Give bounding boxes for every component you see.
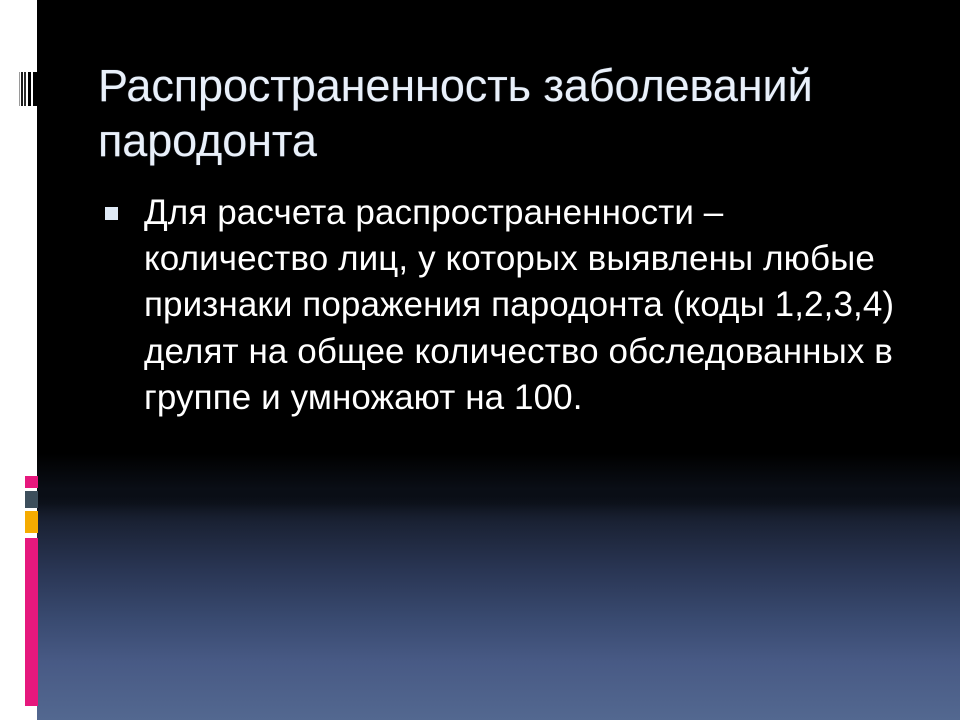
- accent-bar-magenta: [25, 538, 38, 706]
- list-item-text: Для расчета распространенности – количес…: [144, 193, 894, 417]
- accent-block-slate: [25, 491, 38, 508]
- barcode-bar: [33, 72, 38, 106]
- slide-title: Распространенность заболеваний пародонта: [98, 58, 928, 169]
- square-bullet-icon: [105, 207, 118, 220]
- presentation-slide: Распространенность заболеваний пародонта…: [0, 0, 960, 720]
- accent-block-amber: [25, 511, 38, 533]
- barcode-stripes-icon: [19, 72, 38, 106]
- slide-body-list: Для расчета распространенности – количес…: [98, 190, 898, 421]
- list-item: Для расчета распространенности – количес…: [98, 190, 898, 421]
- accent-block-pink: [25, 476, 38, 488]
- slide-content: Распространенность заболеваний пародонта…: [37, 0, 960, 720]
